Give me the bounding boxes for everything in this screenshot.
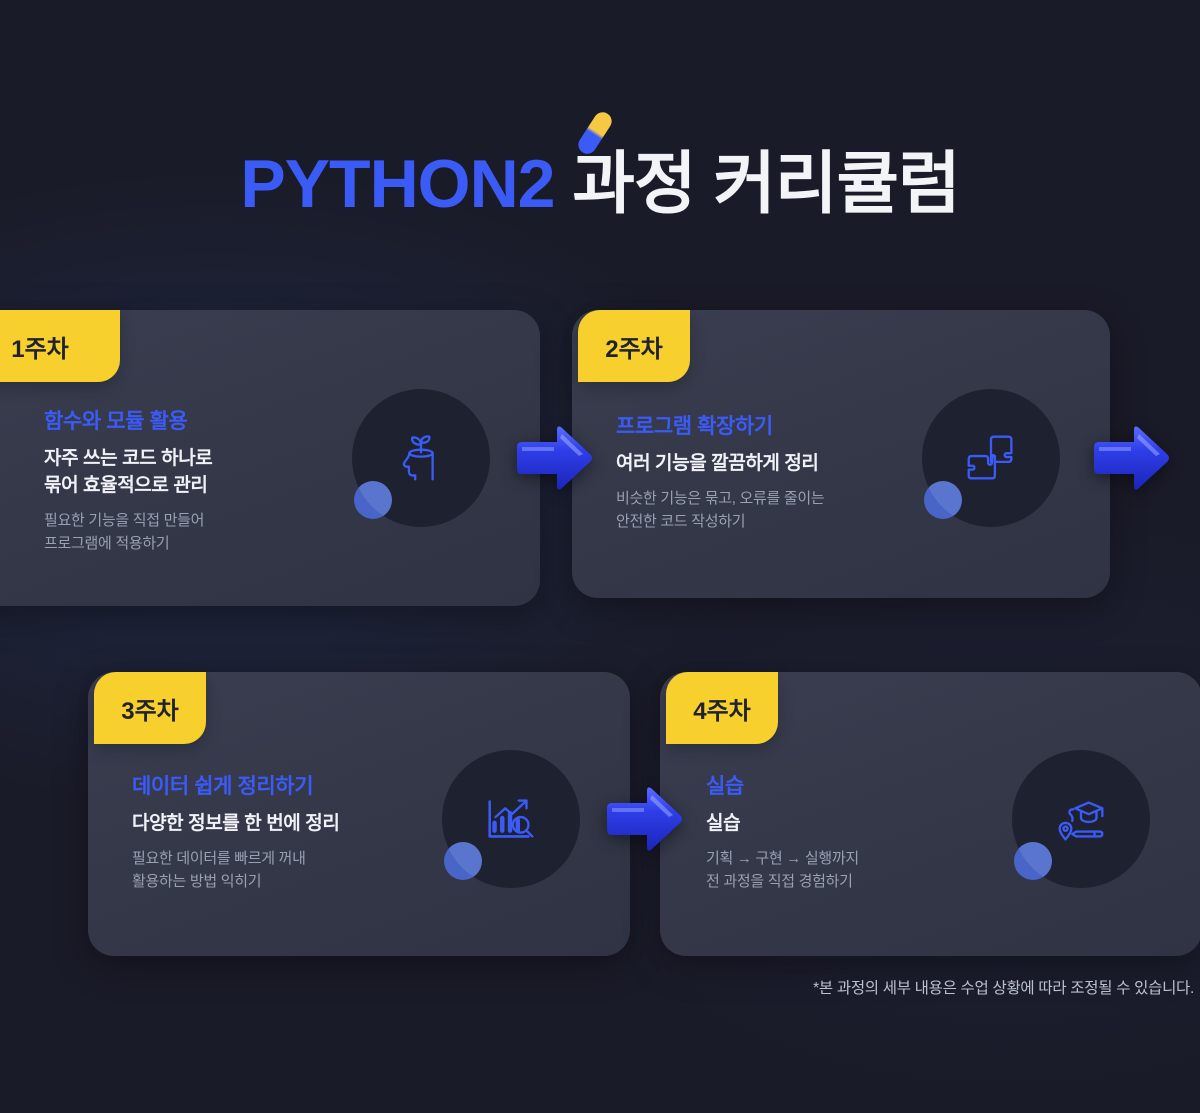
week-card-3-desc-line2: 활용하는 방법 익히기 [132,870,462,893]
arrow-week2-to-next [1090,423,1172,493]
week-badge-2-label: 2주차 [605,329,663,364]
page-title-rest: 과정 커리큘럼 [555,146,960,222]
week-card-2-desc-line1: 비슷한 기능은 묶고, 오류를 줄이는 [616,487,946,510]
week-card-4-text: 실습 실습 기획 → 구현 → 실행까지 전 과정을 직접 경험하기 [706,770,1036,893]
week-card-4-subtitle-line1: 실습 [706,811,1036,838]
week-card-4-heading: 실습 [706,770,1036,800]
arrow-right-icon [603,784,685,854]
week-card-4-accent-dot [1014,842,1052,880]
week-badge-3-label: 3주차 [121,691,179,726]
head-with-sprout-icon [390,427,452,489]
week-card-1-desc: 필요한 기능을 직접 만들어 프로그램에 적용하기 [44,509,344,556]
week-card-3-desc-line1: 필요한 데이터를 빠르게 꺼내 [132,847,462,870]
week-card-1-accent-dot [354,481,392,519]
week-badge-1: 1주차 [0,310,120,382]
week-card-4-icon-wrap [1012,750,1150,888]
week-card-2-desc-line2: 안전한 코드 작성하기 [616,510,946,533]
week-card-3-desc: 필요한 데이터를 빠르게 꺼내 활용하는 방법 익히기 [132,847,462,894]
week-card-3-subtitle-line1: 다양한 정보를 한 번에 정리 [132,811,462,838]
week-badge-1-label: 1주차 [11,329,69,364]
week-card-3-accent-dot [444,842,482,880]
page-title: PYTHON2 과정 커리큘럼 [0,150,1200,218]
week-card-3-text: 데이터 쉽게 정리하기 다양한 정보를 한 번에 정리 필요한 데이터를 빠르게… [132,770,462,893]
week-card-2-icon-wrap [922,389,1060,527]
week-card-2-text: 프로그램 확장하기 여러 기능을 깔끔하게 정리 비슷한 기능은 묶고, 오류를… [616,410,946,533]
title-block: PYTHON2 과정 커리큘럼 [0,150,1200,218]
week-card-2-desc: 비슷한 기능은 묶고, 오류를 줄이는 안전한 코드 작성하기 [616,487,946,534]
week-card-4-desc-line2: 전 과정을 직접 경험하기 [706,870,1036,893]
bar-chart-search-icon [480,788,542,850]
week-card-4-desc: 기획 → 구현 → 실행까지 전 과정을 직접 경험하기 [706,847,1036,894]
arrow-right-icon [1090,423,1172,493]
week-card-1-subtitle: 자주 쓰는 코드 하나로 묶어 효율적으로 관리 [44,446,344,500]
week-card-3-heading: 데이터 쉽게 정리하기 [132,770,462,800]
infographic-canvas: PYTHON2 과정 커리큘럼 1주차 함수와 모듈 활용 자주 쓰는 코드 하… [0,0,1200,1113]
week-card-2-subtitle-line1: 여러 기능을 깔끔하게 정리 [616,451,946,478]
graduation-cap-pin-pencil-icon [1050,788,1112,850]
week-card-1-text: 함수와 모듈 활용 자주 쓰는 코드 하나로 묶어 효율적으로 관리 필요한 기… [44,405,344,555]
week-card-3-subtitle: 다양한 정보를 한 번에 정리 [132,811,462,838]
week-badge-2: 2주차 [578,310,690,382]
week-card-1-subtitle-line2: 묶어 효율적으로 관리 [44,473,344,500]
footnote: *본 과정의 세부 내용은 수업 상황에 따라 조정될 수 있습니다. [813,976,1194,998]
week-badge-4: 4주차 [666,672,778,744]
week-card-4-subtitle: 실습 [706,811,1036,838]
week-badge-4-label: 4주차 [693,691,751,726]
week-card-1-subtitle-line1: 자주 쓰는 코드 하나로 [44,446,344,473]
week-card-1-desc-line1: 필요한 기능을 직접 만들어 [44,509,344,532]
arrow-week1-to-week2 [513,423,595,493]
week-card-2-heading: 프로그램 확장하기 [616,410,946,440]
page-title-highlight: PYTHON2 [240,146,554,222]
arrow-week3-to-week4 [603,784,685,854]
week-card-1-heading: 함수와 모듈 활용 [44,405,344,435]
week-card-1-icon-wrap [352,389,490,527]
week-card-1-desc-line2: 프로그램에 적용하기 [44,532,344,555]
week-card-3-icon-wrap [442,750,580,888]
puzzle-pieces-icon [960,427,1022,489]
week-badge-3: 3주차 [94,672,206,744]
week-card-2-subtitle: 여러 기능을 깔끔하게 정리 [616,451,946,478]
arrow-right-icon [513,423,595,493]
week-card-4-desc-line1: 기획 → 구현 → 실행까지 [706,847,1036,870]
week-card-2-accent-dot [924,481,962,519]
